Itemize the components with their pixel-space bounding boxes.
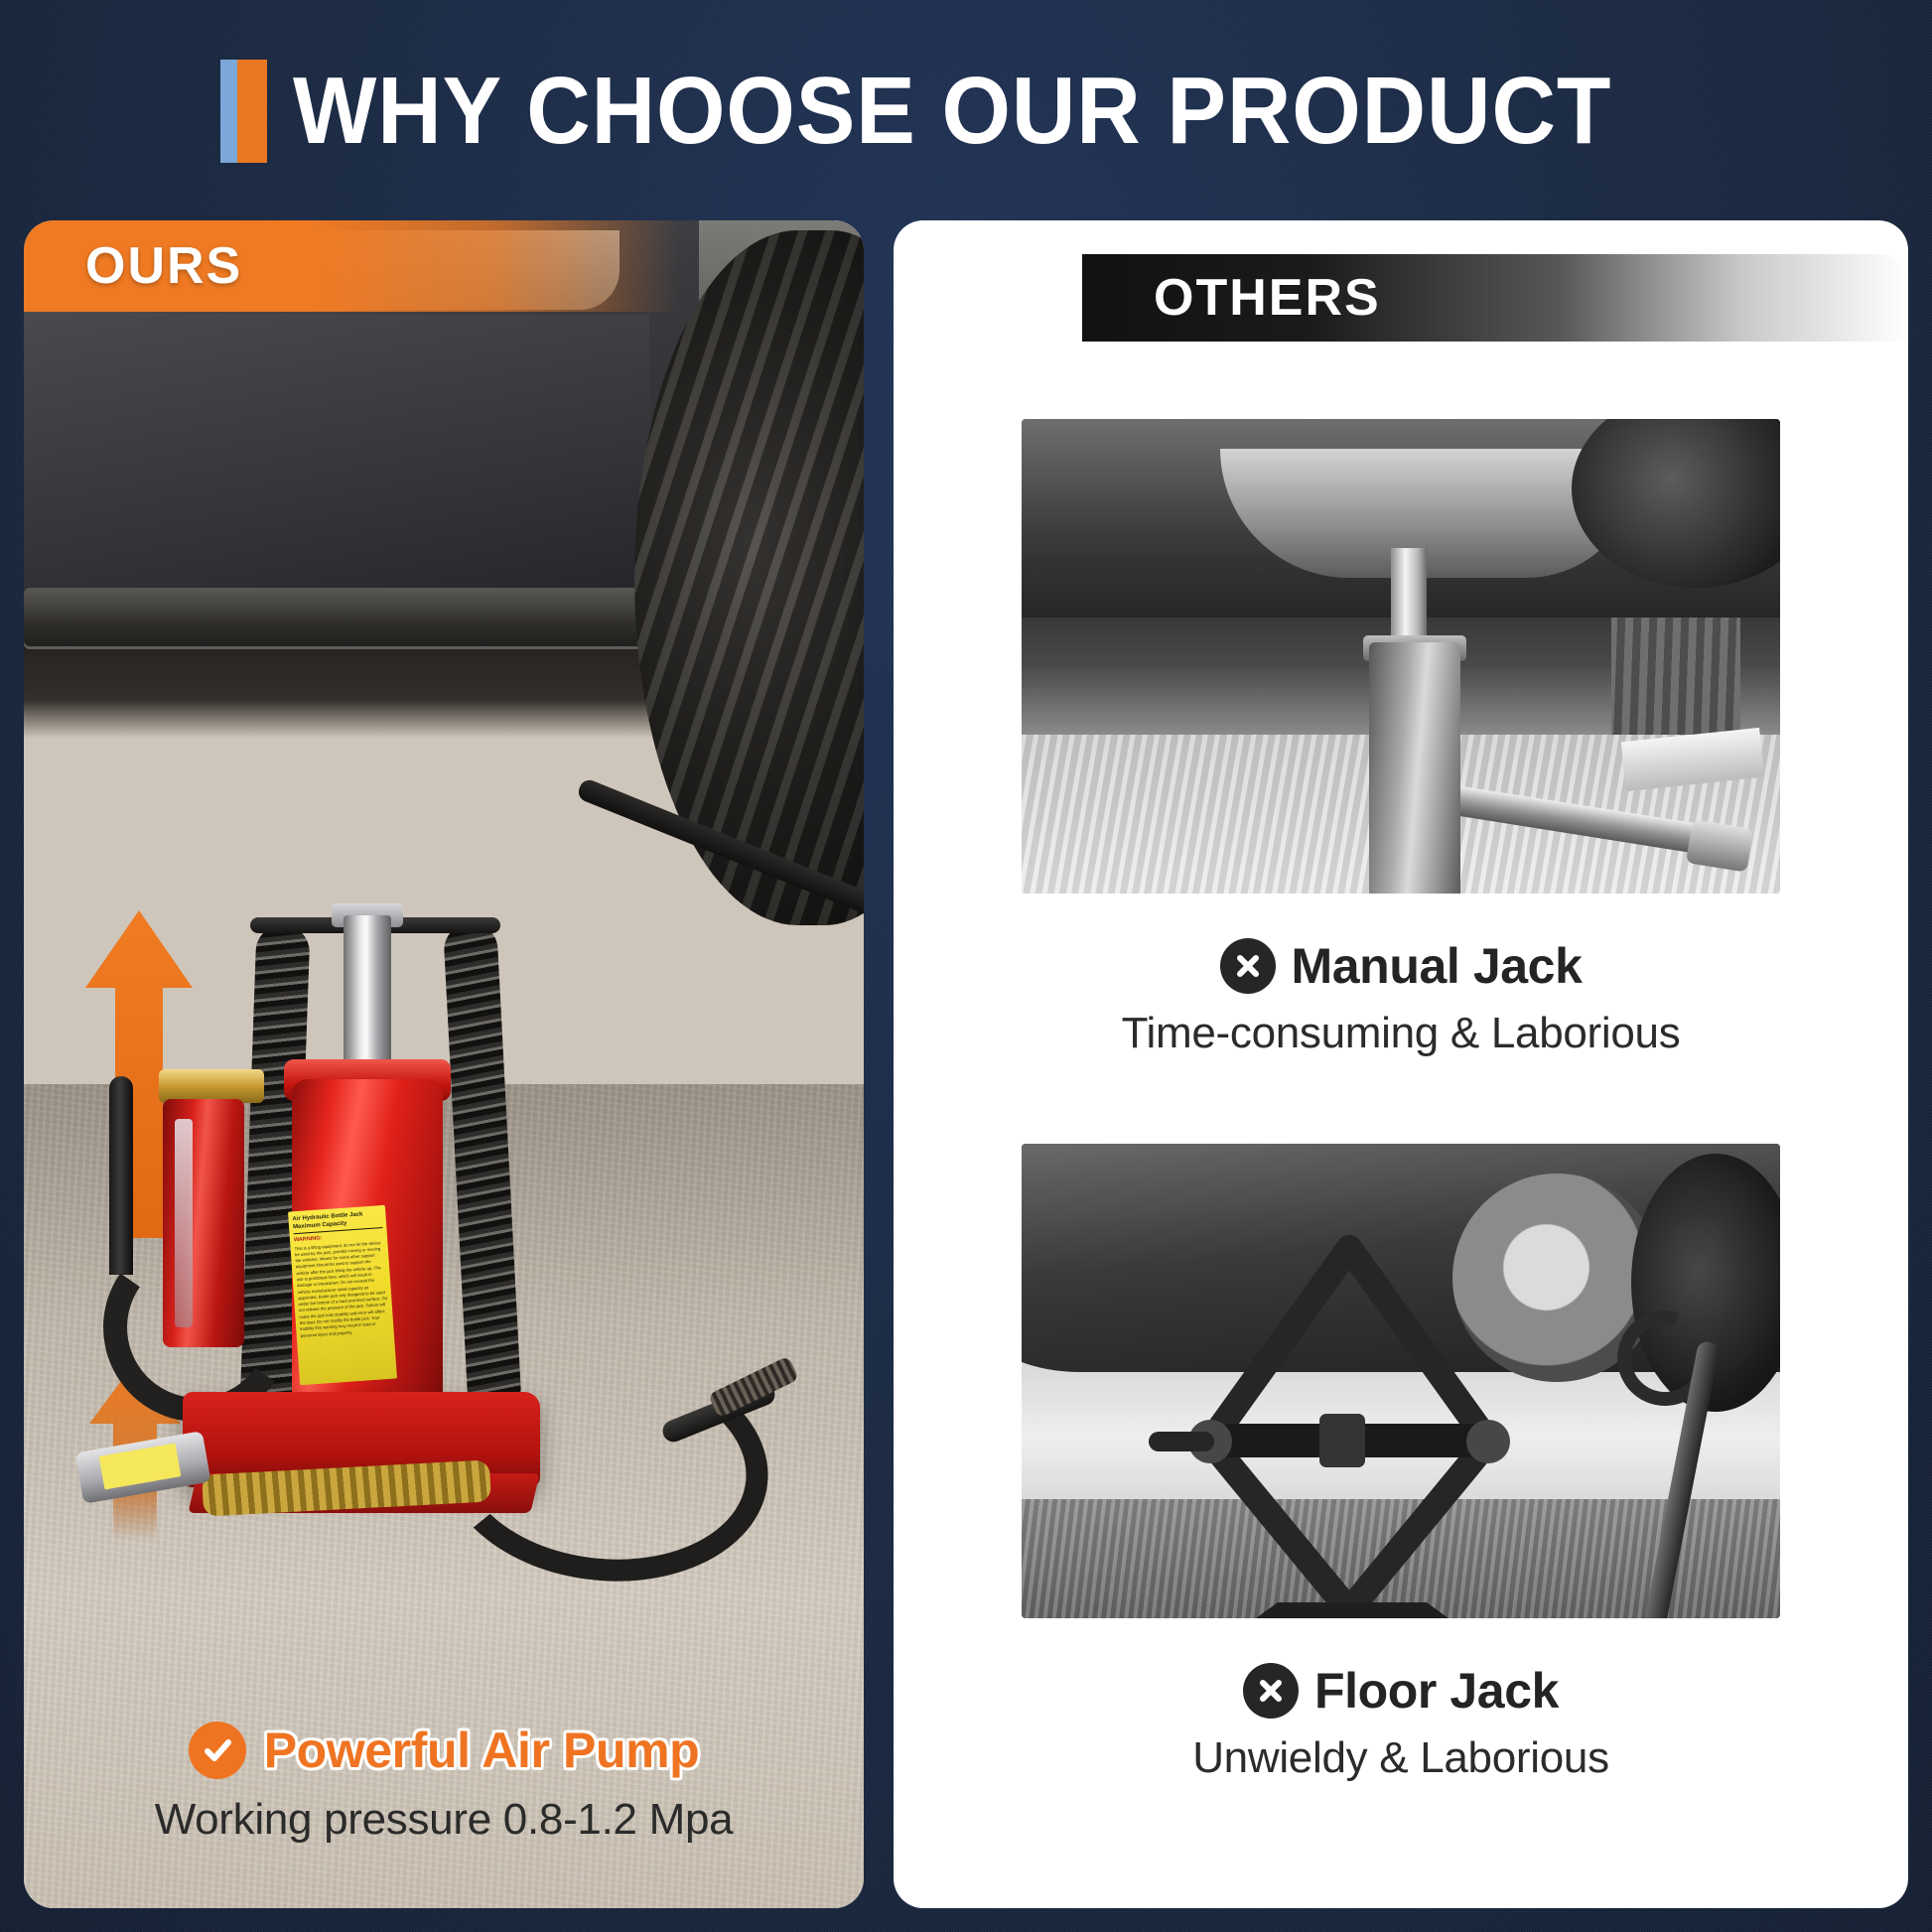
ours-panel: Air Hydraulic Bottle Jack Maximum Capaci… — [24, 220, 864, 1908]
accent-bar-blue — [220, 60, 237, 163]
g2-scissor-jack — [1022, 1144, 1780, 1618]
page-title: WHY CHOOSE OUR PRODUCT — [293, 64, 1611, 159]
floor-jack-subtitle: Unwieldy & Laborious — [894, 1733, 1908, 1783]
photo-brass-fitting — [159, 1069, 264, 1103]
scissor-floor-jack-photo — [1022, 1144, 1780, 1618]
manual-bottle-jack-photo — [1022, 419, 1780, 894]
page-header: WHY CHOOSE OUR PRODUCT — [0, 48, 1932, 175]
photo-jack-ram — [344, 915, 391, 1074]
photo-car-door — [24, 315, 649, 618]
floor-jack-caption-heading: Floor Jack — [894, 1662, 1908, 1720]
ours-caption-subtitle: Working pressure 0.8-1.2 Mpa — [24, 1795, 864, 1845]
x-icon — [1220, 938, 1276, 994]
manual-jack-caption-heading: Manual Jack — [894, 937, 1908, 995]
title-accent-bars — [220, 60, 267, 163]
accent-bar-orange — [237, 60, 267, 163]
others-ribbon: OTHERS — [1082, 254, 1908, 342]
floor-jack-title: Floor Jack — [1314, 1662, 1559, 1720]
ours-caption: Powerful Air Pump Working pressure 0.8-1… — [24, 1722, 864, 1845]
photo-air-hose-upper — [109, 1076, 133, 1275]
photo-label-warning-body: This is a lifting equipment, do not let … — [294, 1240, 389, 1340]
g1-handle-socket — [1686, 819, 1753, 872]
manual-jack-subtitle: Time-consuming & Laborious — [894, 1009, 1908, 1058]
ours-ribbon-label: OURS — [85, 236, 242, 296]
others-item-floor-jack: Floor Jack Unwieldy & Laborious — [894, 1144, 1908, 1783]
manual-jack-title: Manual Jack — [1292, 937, 1583, 995]
others-item-manual-jack: Manual Jack Time-consuming & Laborious — [894, 419, 1908, 1058]
ours-caption-heading: Powerful Air Pump — [24, 1722, 864, 1779]
photo-jack-warning-label: Air Hydraulic Bottle Jack Maximum Capaci… — [288, 1205, 397, 1385]
check-icon — [189, 1722, 246, 1779]
others-panel: OTHERS Manual Jack — [894, 220, 1908, 1908]
photo-rocker-panel — [24, 588, 679, 649]
ours-ribbon: OURS — [24, 220, 864, 312]
x-icon — [1243, 1663, 1299, 1719]
ours-product-photo: Air Hydraulic Bottle Jack Maximum Capaci… — [24, 220, 864, 1908]
ours-caption-title: Powerful Air Pump — [264, 1722, 700, 1779]
g1-jack-body — [1369, 642, 1460, 894]
others-ribbon-label: OTHERS — [1154, 268, 1381, 328]
